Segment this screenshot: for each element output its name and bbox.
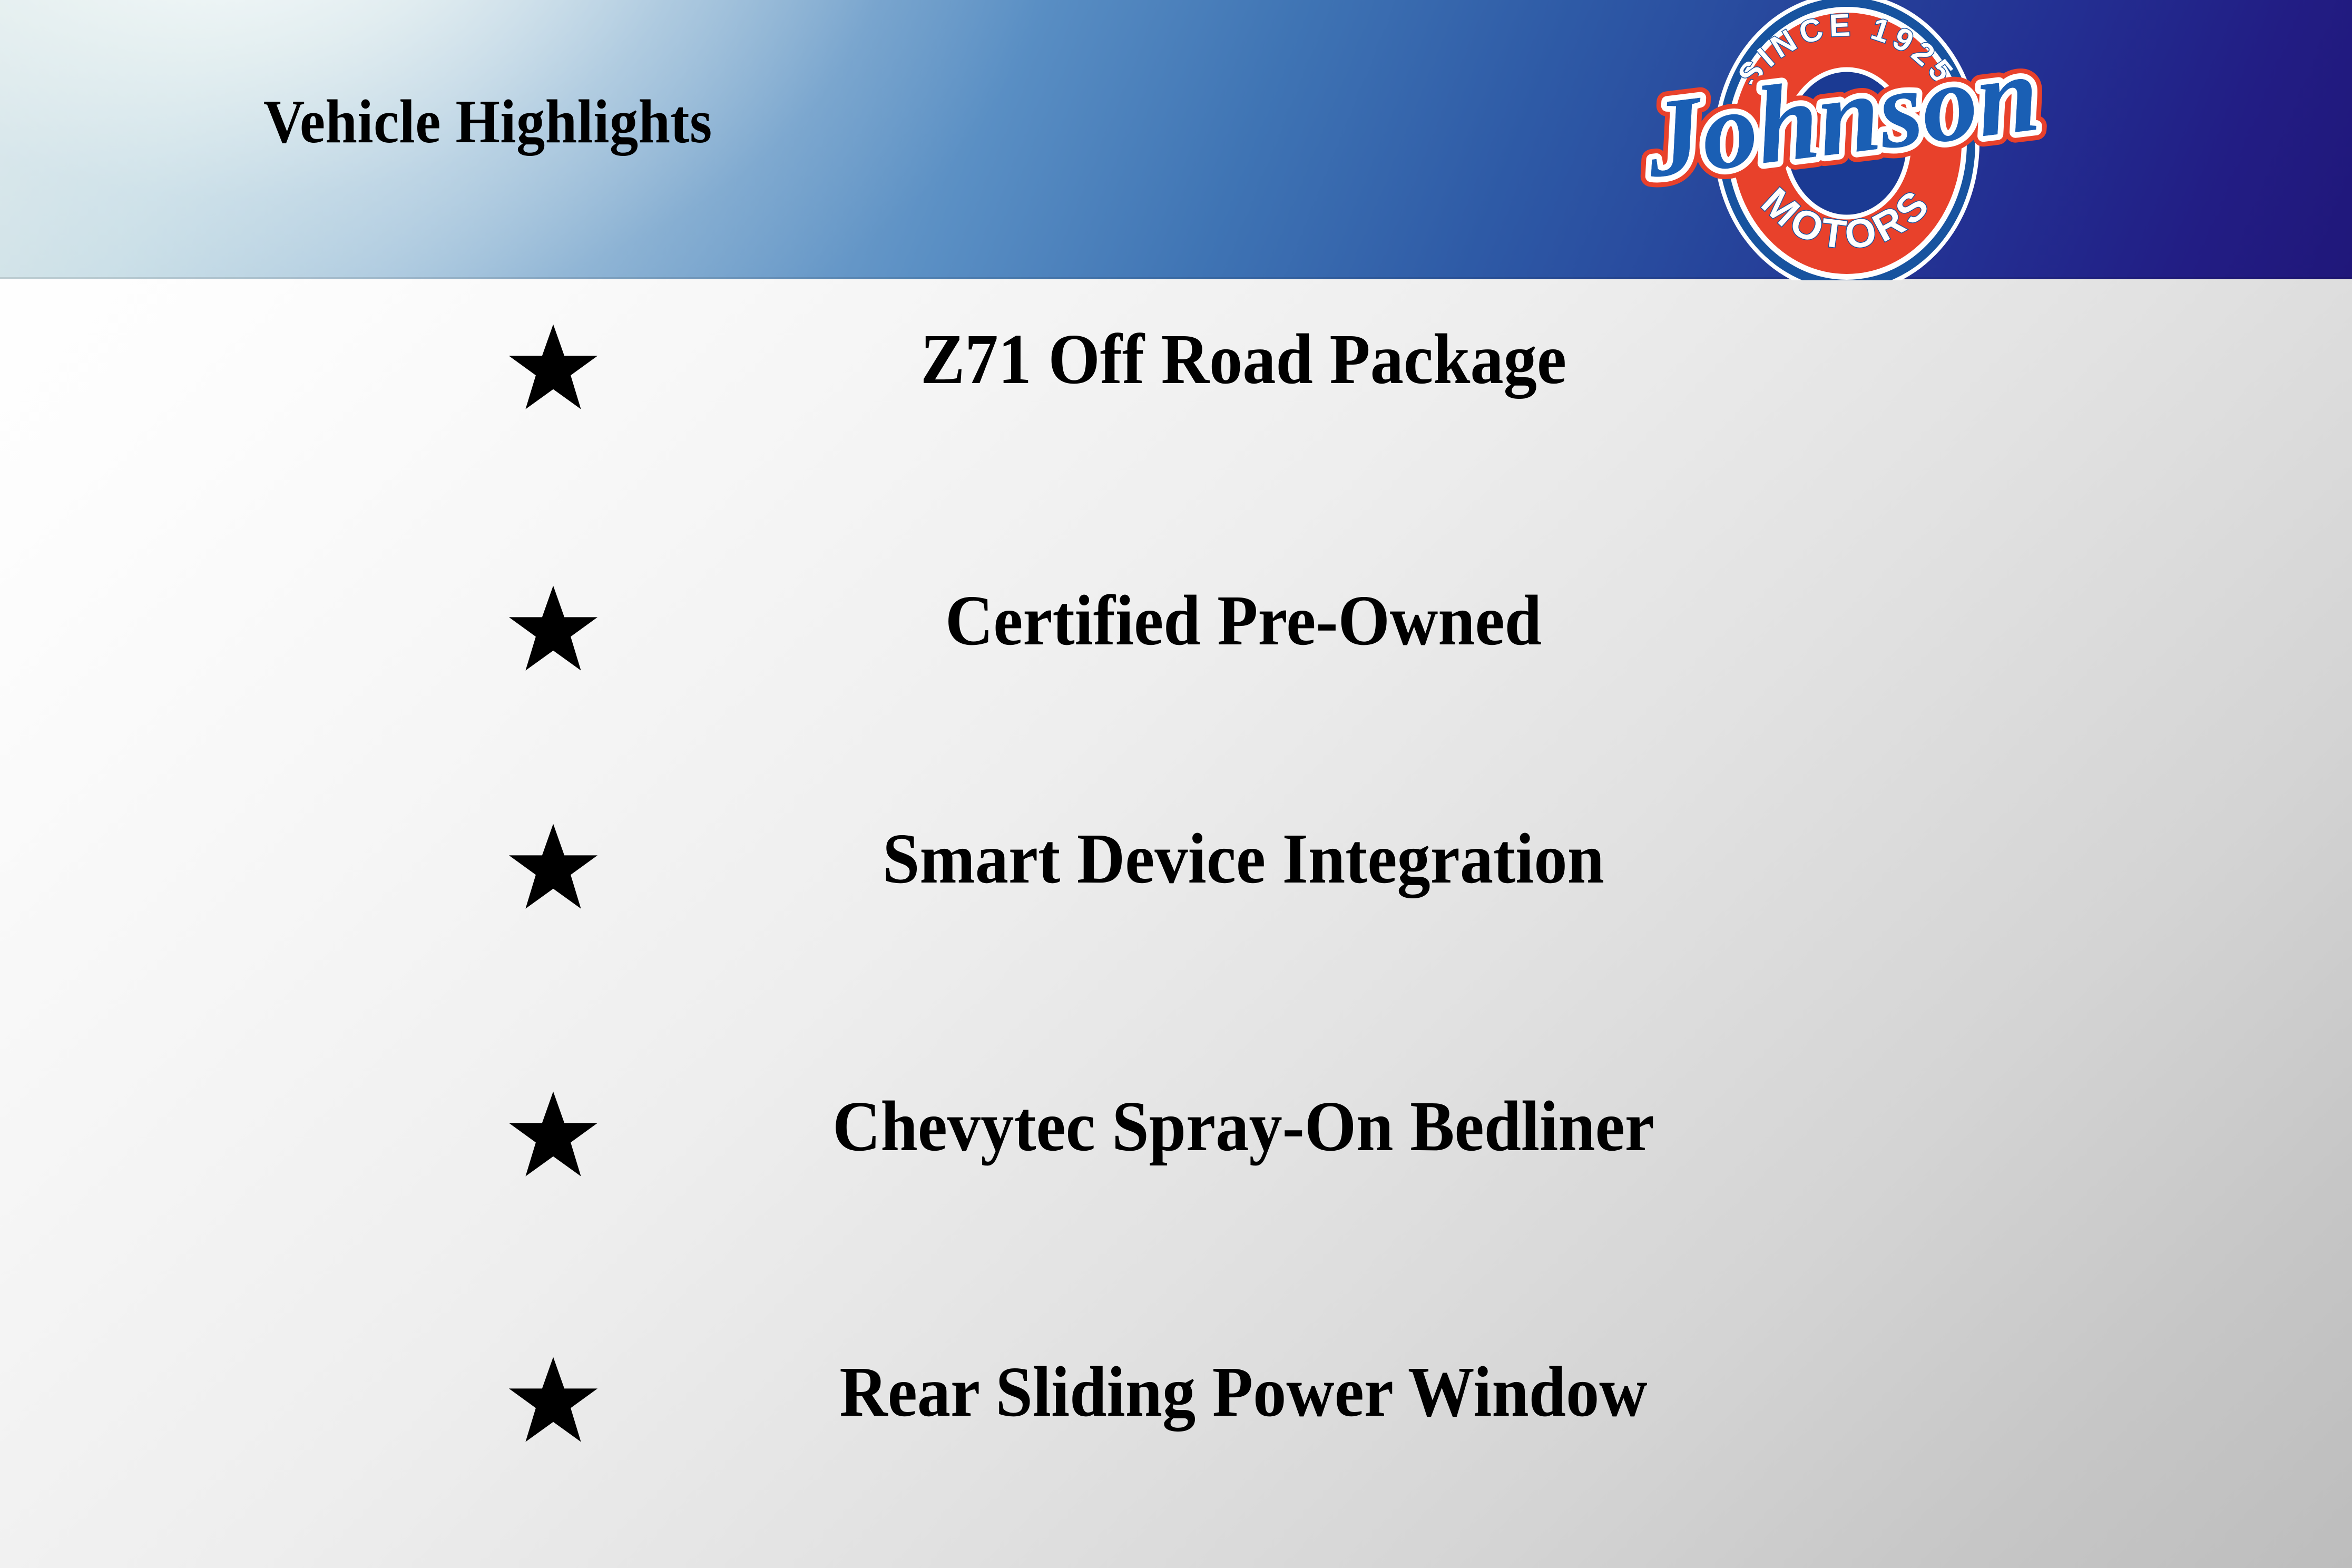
- star-icon: [506, 1355, 601, 1445]
- star-icon: [506, 584, 601, 673]
- highlight-label: Chevytec Spray-On Bedliner: [665, 1091, 1822, 1162]
- highlight-label: Z71 Off Road Package: [665, 324, 1822, 395]
- list-item: Certified Pre-Owned: [0, 568, 2352, 673]
- logo-wordmark: Johnson Johnson Johnson: [1639, 32, 2045, 201]
- star-icon: [506, 822, 601, 912]
- johnson-motors-logo: SINCE 1925 MOTORS Johnson Johnson Johnso…: [1639, 0, 2055, 280]
- list-item: Rear Sliding Power Window: [0, 1339, 2352, 1445]
- svg-text:Johnson: Johnson: [1639, 32, 2045, 201]
- list-item: Smart Device Integration: [0, 806, 2352, 912]
- list-item: Chevytec Spray-On Bedliner: [0, 1074, 2352, 1179]
- highlight-label: Smart Device Integration: [665, 823, 1822, 895]
- vehicle-highlights-list: Z71 Off Road Package Certified Pre-Owned…: [0, 279, 2352, 1568]
- star-icon: [506, 322, 601, 412]
- highlight-label: Rear Sliding Power Window: [665, 1356, 1822, 1428]
- highlight-label: Certified Pre-Owned: [665, 585, 1822, 656]
- star-icon: [506, 1090, 601, 1179]
- list-item: Z71 Off Road Package: [0, 307, 2352, 412]
- slide-canvas: Vehicle Highlights SINCE 19: [0, 0, 2352, 1568]
- page-title: Vehicle Highlights: [263, 91, 712, 153]
